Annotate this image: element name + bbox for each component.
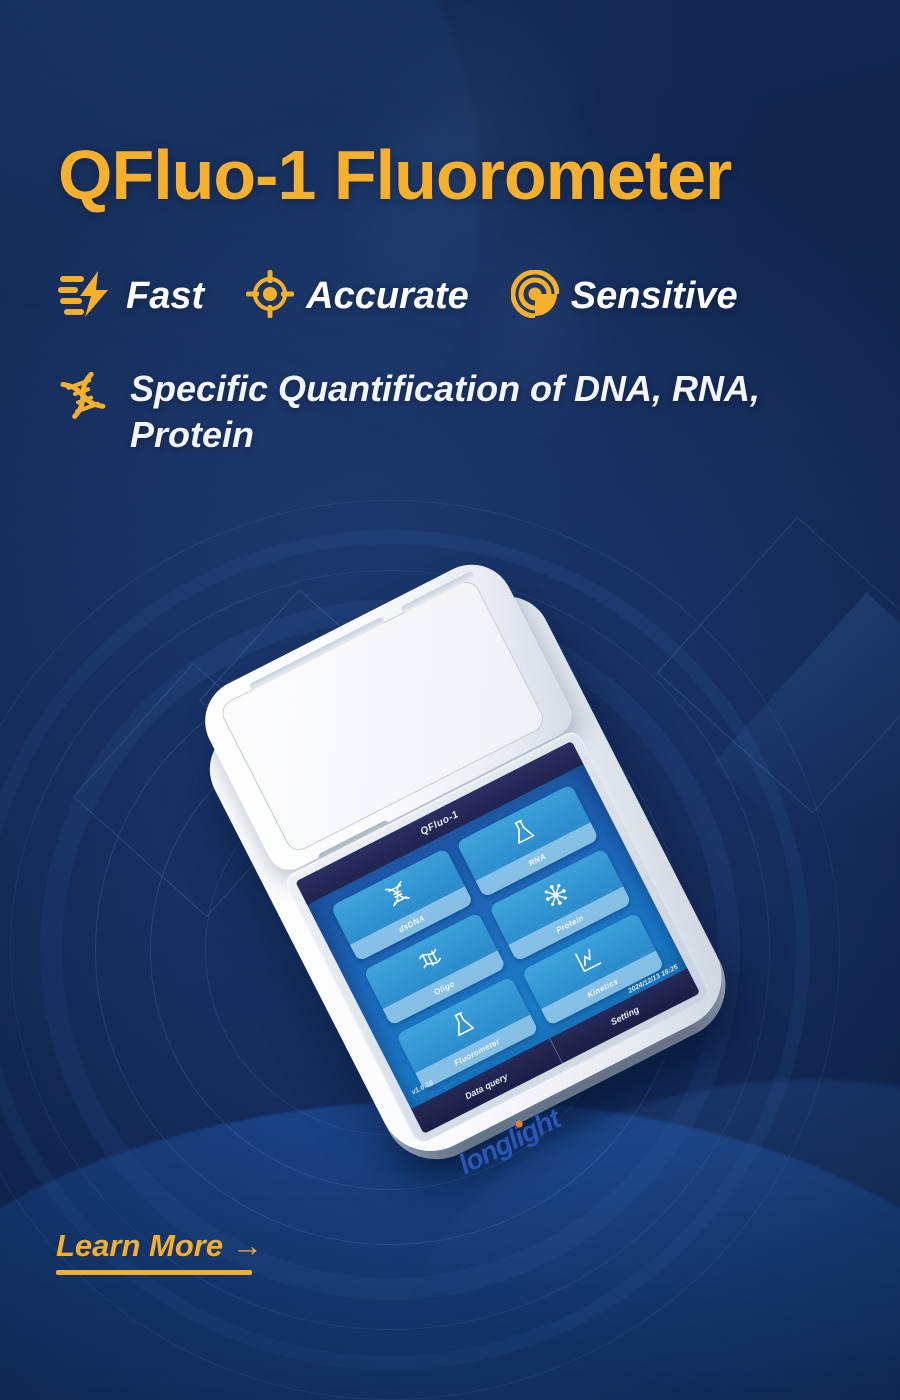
device-illustration: QFluo-1 <box>120 540 820 1160</box>
page-title: QFluo-1 Fluorometer <box>58 140 878 211</box>
feature-sensitive: Sensitive <box>511 270 738 323</box>
feature-label: Accurate <box>306 275 469 318</box>
speed-lightning-icon <box>58 270 114 323</box>
crosshair-target-icon <box>246 270 294 323</box>
learn-more-label: Learn More → <box>56 1228 263 1264</box>
learn-more-underline <box>56 1270 252 1275</box>
feature-label: Sensitive <box>571 275 738 318</box>
feature-badges: Fast Accurate <box>58 270 738 323</box>
learn-more-link[interactable]: Learn More → <box>56 1228 263 1275</box>
feature-label: Fast <box>126 275 204 318</box>
signal-waves-icon <box>511 270 559 323</box>
dna-helix-icon <box>56 372 114 435</box>
poster-canvas: QFluo-1 Fluorometer Fast <box>0 0 900 1400</box>
feature-specific-quantification: Specific Quantification of DNA, RNA, Pro… <box>56 366 816 458</box>
feature-fast: Fast <box>58 270 204 323</box>
feature-label: Specific Quantification of DNA, RNA, Pro… <box>130 366 816 458</box>
feature-accurate: Accurate <box>246 270 469 323</box>
